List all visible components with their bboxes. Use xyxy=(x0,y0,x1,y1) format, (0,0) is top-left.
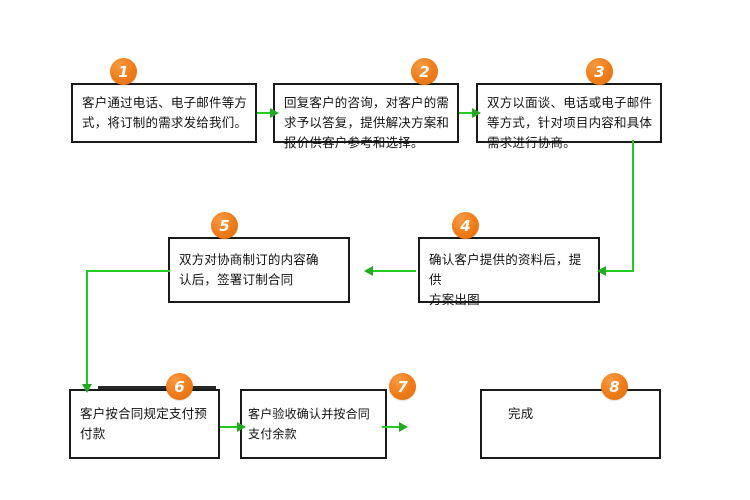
step-label-2: 回复客户的咨询，对客户的需 求予以答复，提供解决方案和 报价供客户参考和选择。 xyxy=(284,93,450,153)
step-label-7: 客户验收确认并按合同支付余款 xyxy=(248,404,382,444)
arrowhead-step5-to-step6 xyxy=(82,384,92,393)
step-node-4[interactable]: 确认客户提供的资料后，提供 方案出图 xyxy=(418,237,600,303)
connector-step5-to-step6-horizontal xyxy=(86,270,170,272)
arrowhead-step3-to-step4 xyxy=(597,266,606,276)
step-label-4: 确认客户提供的资料后，提供 方案出图 xyxy=(429,250,591,310)
step-label-6: 客户按合同规定支付预付款 xyxy=(80,404,211,444)
connector-step3-to-step4-vertical xyxy=(632,140,634,272)
step-node-2[interactable]: 回复客户的咨询，对客户的需 求予以答复，提供解决方案和 报价供客户参考和选择。 xyxy=(273,83,459,143)
arrowhead-step2-to-step3 xyxy=(472,108,481,118)
step-node-7[interactable]: 客户验收确认并按合同支付余款 xyxy=(240,389,387,459)
step-badge-2: 2 xyxy=(411,58,438,85)
arrowhead-step7-to-step8 xyxy=(399,422,408,432)
step-label-5: 双方对协商制订的内容确 认后，签署订制合同 xyxy=(179,250,341,290)
step-node-1[interactable]: 客户通过电话、电子邮件等方 式，将订制的需求发给我们。 xyxy=(71,83,257,143)
connector-step5-to-step6-vertical xyxy=(86,270,88,386)
step-node-6[interactable]: 客户按合同规定支付预付款 xyxy=(69,389,220,459)
arrowhead-step4-to-step5 xyxy=(364,266,373,276)
step-badge-7: 7 xyxy=(389,373,416,400)
step-badge-4: 4 xyxy=(452,212,479,239)
step-badge-6: 6 xyxy=(166,373,193,400)
step-node-5[interactable]: 双方对协商制订的内容确 认后，签署订制合同 xyxy=(168,237,350,303)
step-node-8[interactable]: 完成 xyxy=(480,389,661,459)
step-label-8: 完成 xyxy=(508,404,652,424)
step-label-1: 客户通过电话、电子邮件等方 式，将订制的需求发给我们。 xyxy=(82,93,248,133)
step-badge-3: 3 xyxy=(586,58,613,85)
scan-artifact-top-step6 xyxy=(98,386,216,389)
arrowhead-step6-to-step7 xyxy=(237,422,246,432)
step-badge-1: 1 xyxy=(110,58,137,85)
step-badge-5: 5 xyxy=(211,212,238,239)
step-label-3: 双方以面谈、电话或电子邮件 等方式，针对项目内容和具体 需求进行协商。 xyxy=(487,93,653,153)
flowchart-canvas: 客户通过电话、电子邮件等方 式，将订制的需求发给我们。 1 回复客户的咨询，对客… xyxy=(0,0,750,500)
step-node-3[interactable]: 双方以面谈、电话或电子邮件 等方式，针对项目内容和具体 需求进行协商。 xyxy=(476,83,662,143)
connector-step4-to-step5 xyxy=(368,270,416,272)
step-badge-8: 8 xyxy=(601,373,628,400)
arrowhead-step1-to-step2 xyxy=(270,108,279,118)
